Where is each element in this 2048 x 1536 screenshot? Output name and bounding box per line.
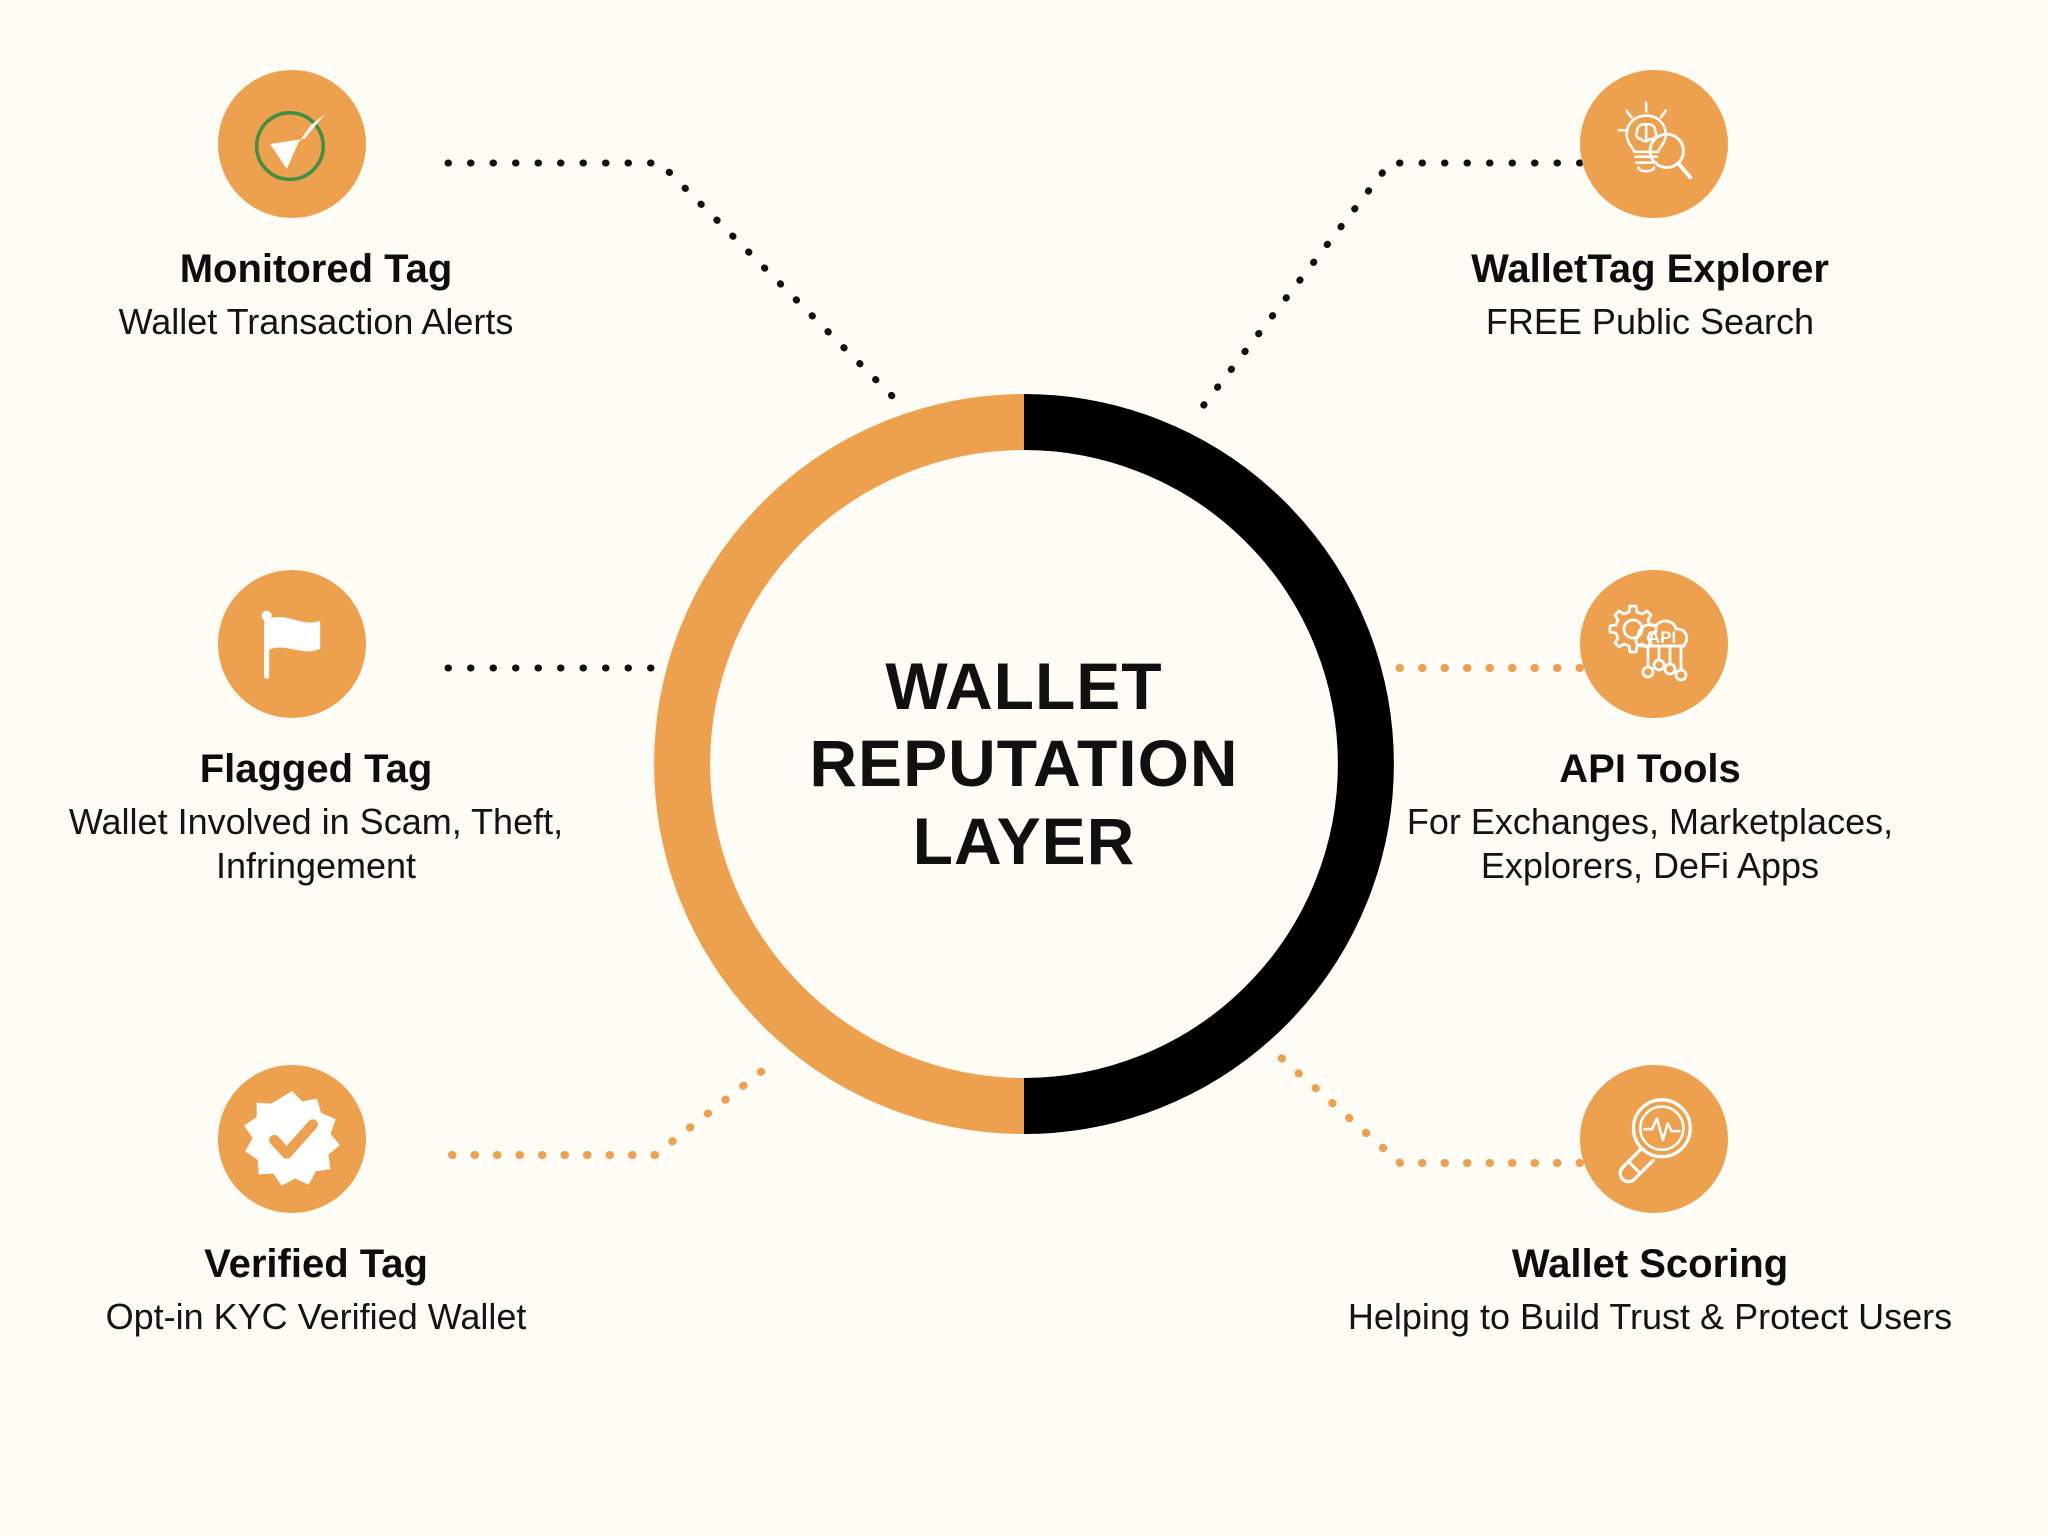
svg-text:API: API: [1648, 628, 1676, 647]
center-hub: WALLET REPUTATION LAYER: [654, 394, 1394, 1134]
center-title-line-3: LAYER: [913, 803, 1136, 880]
title-monitored: Monitored Tag: [6, 245, 626, 294]
badge-verified: [218, 1065, 366, 1213]
green-circle-check-icon: [240, 92, 344, 196]
title-verified: Verified Tag: [6, 1240, 626, 1289]
subtitle-api: For Exchanges, Marketplaces, Explorers, …: [1340, 800, 1960, 888]
title-api: API Tools: [1340, 745, 1960, 794]
badge-explorer: [1580, 70, 1728, 218]
title-scoring: Wallet Scoring: [1340, 1240, 1960, 1289]
subtitle-monitored: Wallet Transaction Alerts: [6, 300, 626, 344]
subtitle-flagged: Wallet Involved in Scam, Theft, Infringe…: [6, 800, 626, 888]
api-cloud-gear-icon: API: [1604, 594, 1704, 694]
subtitle-scoring: Helping to Build Trust & Protect Users: [1340, 1295, 1960, 1339]
badge-flagged: [218, 570, 366, 718]
badge-api: API: [1580, 570, 1728, 718]
badge-monitored: [218, 70, 366, 218]
flag-icon: [245, 597, 339, 691]
labels-monitored: Monitored Tag Wallet Transaction Alerts: [6, 245, 626, 344]
subtitle-explorer: FREE Public Search: [1340, 300, 1960, 344]
labels-api: API Tools For Exchanges, Marketplaces, E…: [1340, 745, 1960, 888]
center-title-line-1: WALLET: [885, 648, 1162, 725]
magnifier-pulse-icon: [1605, 1090, 1703, 1188]
infographic-canvas: WALLET REPUTATION LAYER Monitored Tag Wa…: [0, 0, 2048, 1536]
labels-verified: Verified Tag Opt-in KYC Verified Wallet: [6, 1240, 626, 1339]
subtitle-verified: Opt-in KYC Verified Wallet: [6, 1295, 626, 1339]
title-flagged: Flagged Tag: [6, 745, 626, 794]
labels-flagged: Flagged Tag Wallet Involved in Scam, The…: [6, 745, 626, 888]
center-title-line-2: REPUTATION: [809, 725, 1238, 802]
badge-scoring: [1580, 1065, 1728, 1213]
labels-scoring: Wallet Scoring Helping to Build Trust & …: [1340, 1240, 1960, 1339]
lightbulb-brain-search-icon: [1605, 95, 1703, 193]
labels-explorer: WalletTag Explorer FREE Public Search: [1340, 245, 1960, 344]
center-title-block: WALLET REPUTATION LAYER: [654, 394, 1394, 1134]
verified-badge-check-icon: [240, 1087, 344, 1191]
title-explorer: WalletTag Explorer: [1340, 245, 1960, 294]
